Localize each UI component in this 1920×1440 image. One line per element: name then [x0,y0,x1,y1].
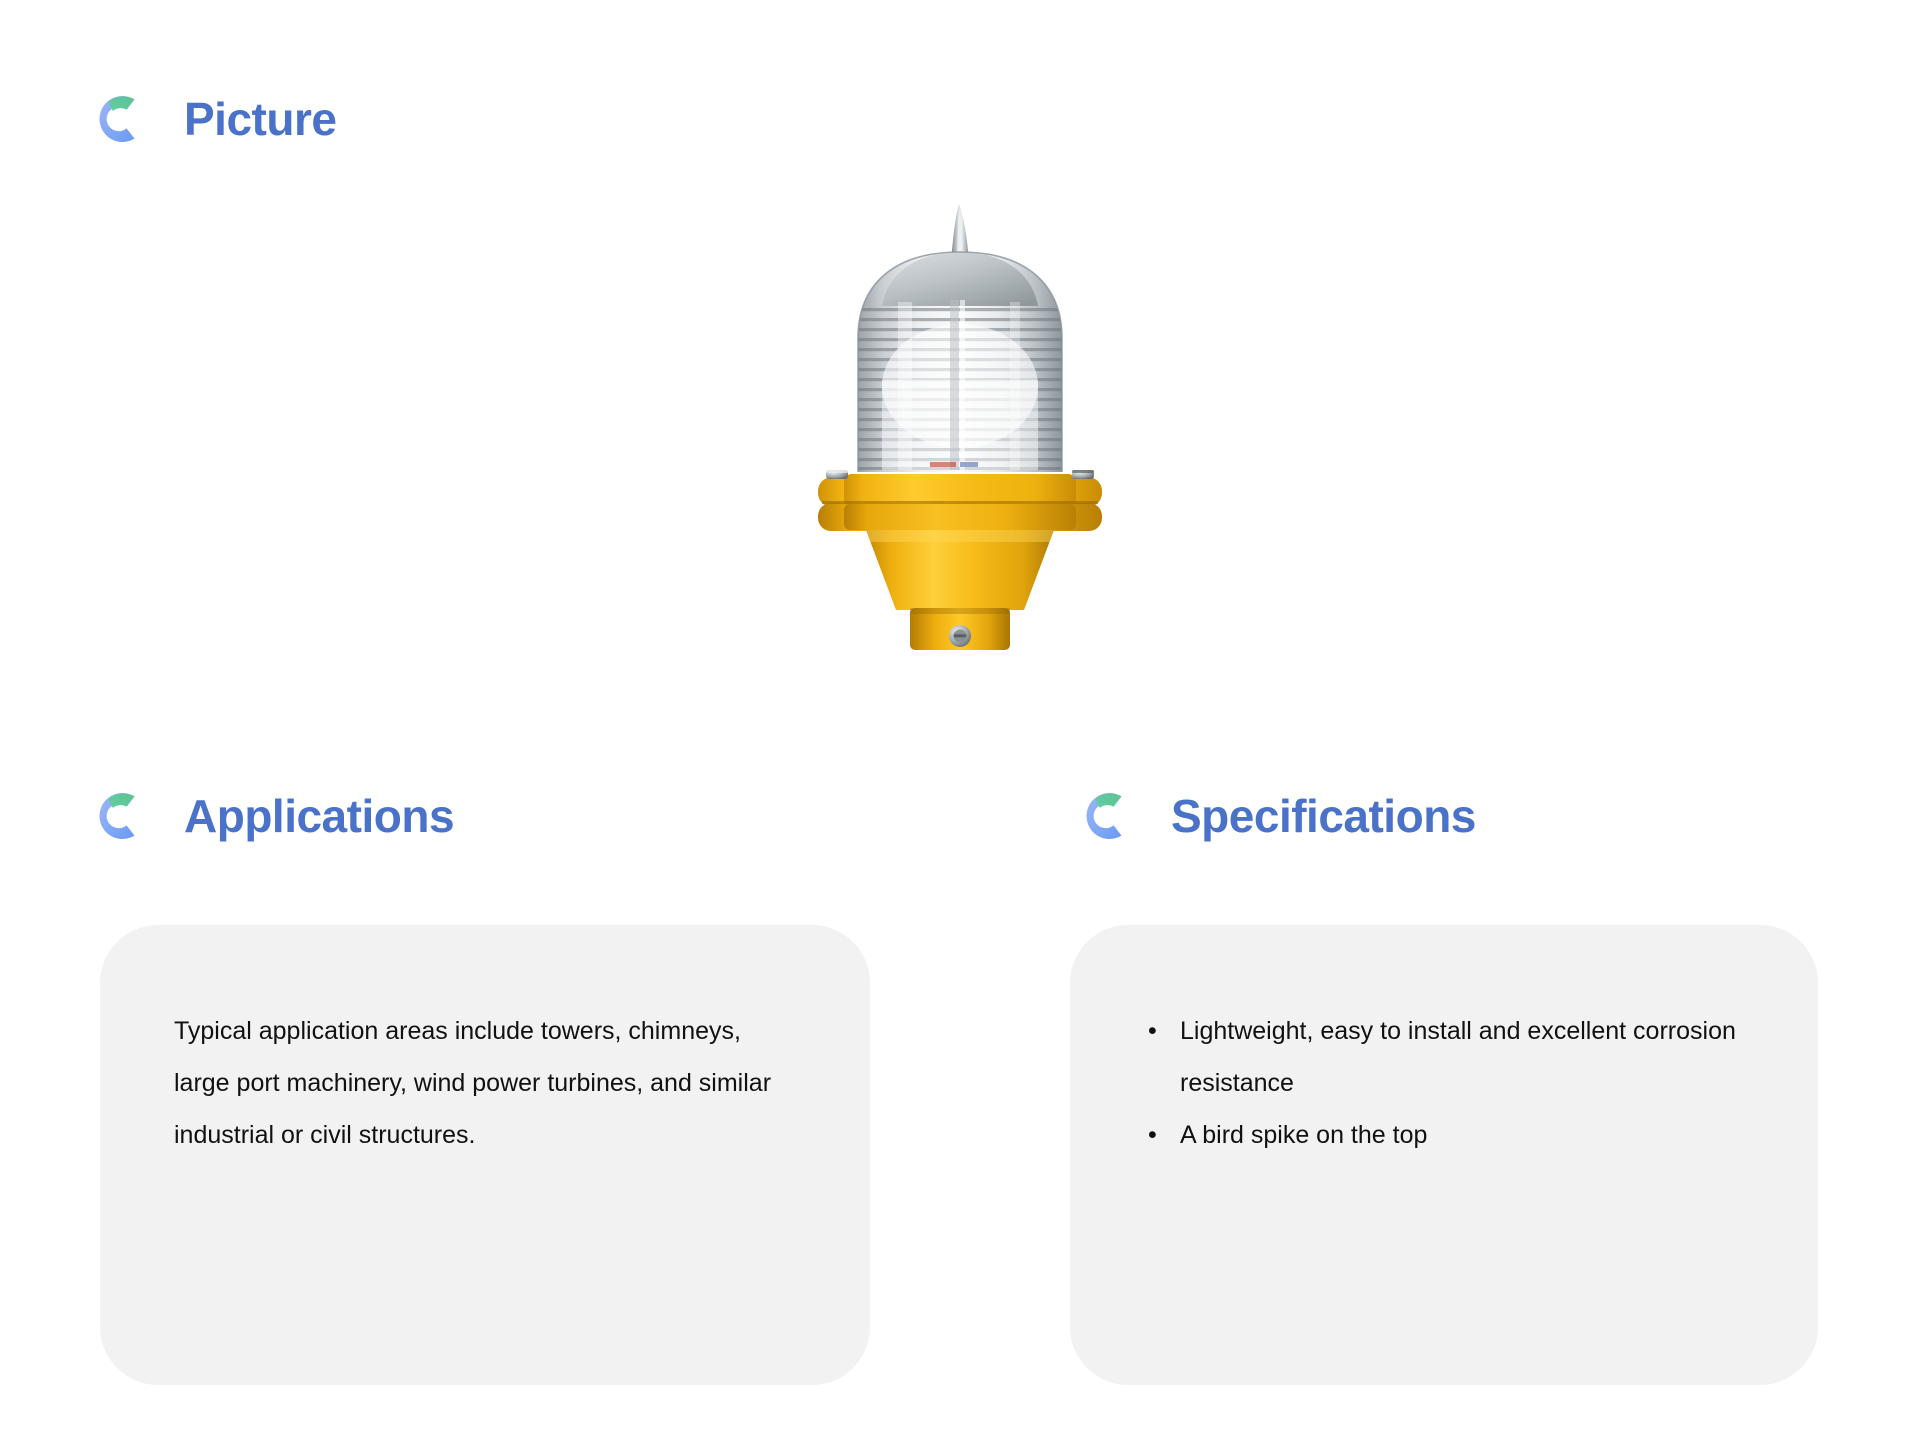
flange-bolt-right [1072,470,1094,479]
page-title: Picture [184,96,336,142]
applications-paragraph: Typical application areas include towers… [174,1005,796,1161]
specifications-card: Lightweight, easy to install and excelle… [1070,925,1818,1385]
section-title-applications: Applications [184,793,454,839]
specifications-card-body: Lightweight, easy to install and excelle… [1070,925,1818,1161]
yellow-tapered-base [866,530,1054,650]
product-picture-stage [660,190,1260,670]
list-item: Lightweight, easy to install and excelle… [1144,1005,1744,1109]
section-heading-specifications: Specifications [1075,785,1476,847]
base-screw [949,625,971,647]
flange-bolt-left [826,470,848,479]
yellow-mounting-flange [818,470,1102,531]
bird-spike [952,204,969,256]
specifications-bullet-list: Lightweight, easy to install and excelle… [1144,1005,1744,1161]
section-heading-picture: Picture [88,88,336,150]
clear-ribbed-dome [850,252,1070,472]
slide-canvas: Picture [0,0,1920,1440]
applications-card: Typical application areas include towers… [100,925,870,1385]
section-title-specifications: Specifications [1171,793,1476,839]
list-item: A bird spike on the top [1144,1109,1744,1161]
brand-c-ring-icon [1075,785,1137,847]
brand-c-ring-icon [88,88,150,150]
aviation-obstruction-light-icon [810,190,1110,660]
section-heading-applications: Applications [88,785,454,847]
applications-card-body: Typical application areas include towers… [100,925,870,1161]
brand-c-ring-icon [88,785,150,847]
